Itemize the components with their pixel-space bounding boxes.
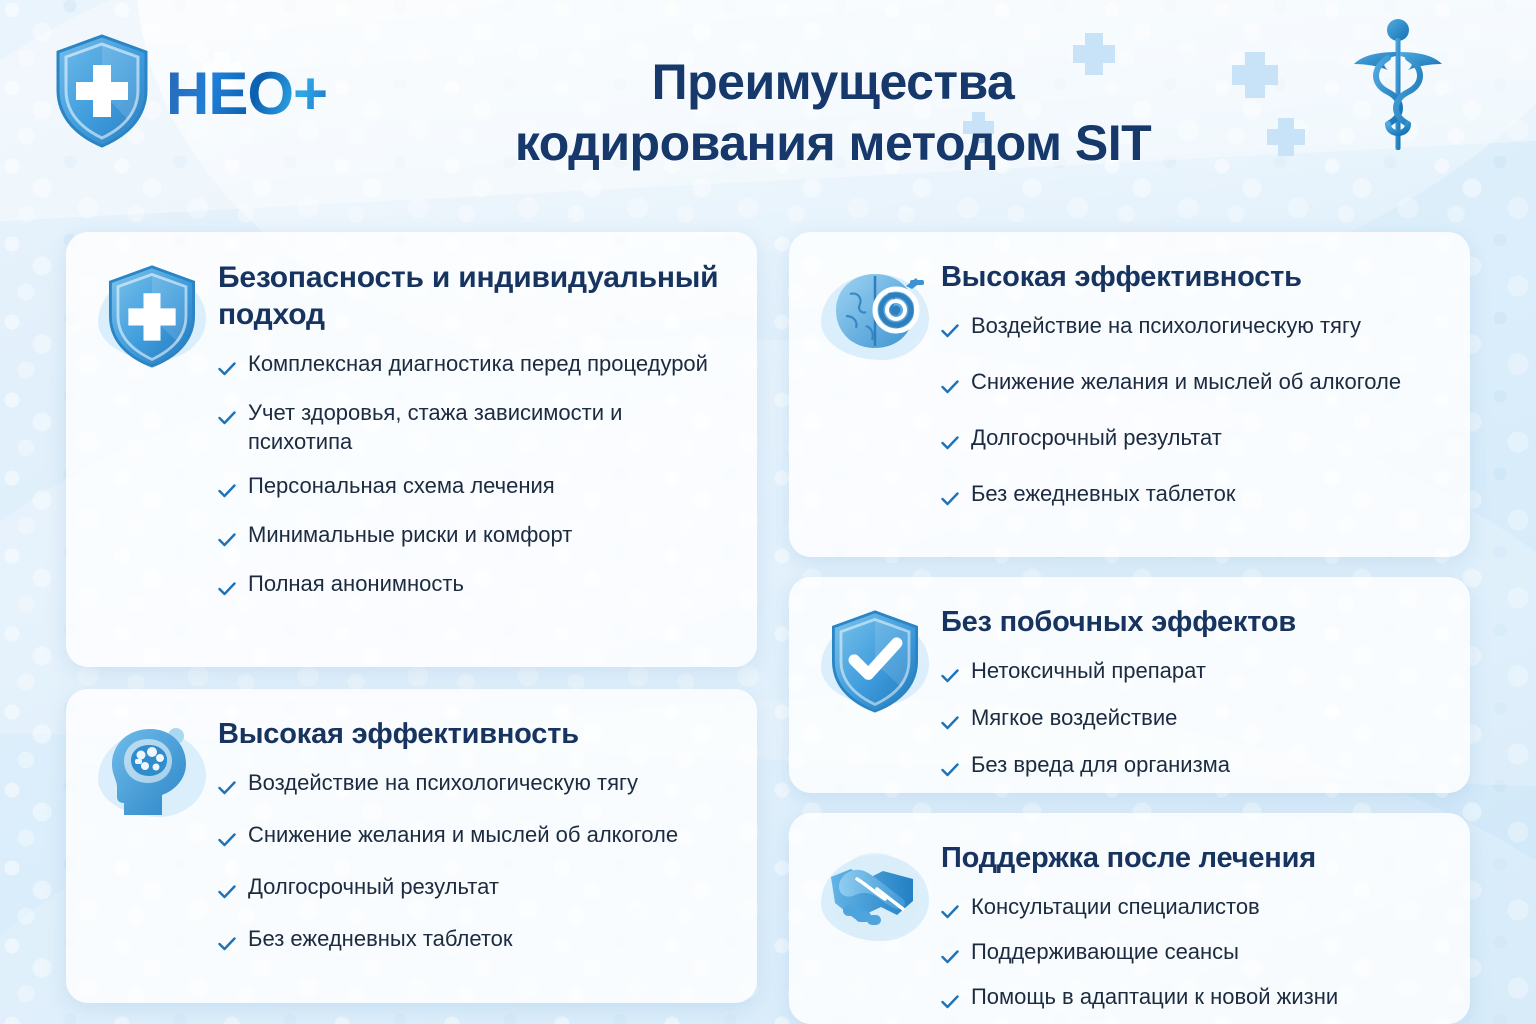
- card-safety: Безопасность и индивидуальный подход Ком…: [66, 232, 757, 667]
- list-item-text: Учет здоровья, стажа зависимости и психо…: [248, 398, 731, 456]
- list-item: Поддерживающие сеансы: [941, 937, 1444, 971]
- brand-logo: HEO+: [52, 32, 327, 155]
- head-brain-icon: [94, 721, 210, 825]
- card-safety-body: Безопасность и индивидуальный подход Ком…: [218, 258, 731, 603]
- page-title-line-1: Преимущества: [330, 52, 1336, 113]
- list-item: Без вреда для организма: [941, 750, 1444, 784]
- list-item: Полная анонимность: [218, 569, 731, 603]
- card-no-side-effects-bullets: Нетоксичный препарат Мягкое воздействие: [941, 656, 1444, 784]
- page-title-line-2: кодирования методом SIT: [330, 113, 1336, 174]
- card-no-side-effects: Без побочных эффектов Нетоксичный препар…: [789, 577, 1470, 793]
- list-item-text: Снижение желания и мыслей об алкоголе: [971, 367, 1401, 396]
- card-support-bullets: Консультации специалистов Поддерживающие…: [941, 892, 1444, 1016]
- list-item: Консультации специалистов: [941, 892, 1444, 926]
- list-item-text: Поддерживающие сеансы: [971, 937, 1239, 966]
- list-item: Минимальные риски и комфорт: [218, 520, 731, 554]
- list-item-text: Помощь в адаптации к новой жизни: [971, 982, 1338, 1011]
- list-item-text: Персональная схема лечения: [248, 471, 555, 500]
- list-item: Без ежедневных таблеток: [941, 479, 1444, 513]
- check-icon: [218, 929, 236, 958]
- list-item: Помощь в адаптации к новой жизни: [941, 982, 1444, 1016]
- list-item: Долгосрочный результат: [941, 423, 1444, 457]
- card-efficiency-left-bullets: Воздействие на психологическую тягу Сниж…: [218, 768, 731, 958]
- card-safety-bullets: Комплексная диагностика перед процедурой…: [218, 349, 731, 603]
- list-item: Снижение желания и мыслей об алкоголе: [218, 820, 731, 854]
- list-item: Воздействие на психологическую тягу: [941, 311, 1444, 345]
- left-column: Безопасность и индивидуальный подход Ком…: [66, 232, 757, 1024]
- list-item-text: Консультации специалистов: [971, 892, 1260, 921]
- list-item-text: Долгосрочный результат: [971, 423, 1222, 452]
- card-support-body: Поддержка после лечения Консультации спе…: [941, 839, 1444, 1024]
- check-icon: [941, 428, 959, 457]
- list-item: Нетоксичный препарат: [941, 656, 1444, 690]
- check-icon: [941, 987, 959, 1016]
- list-item: Долгосрочный результат: [218, 872, 731, 906]
- card-efficiency-left: Высокая эффективность Воздействие на пси…: [66, 689, 757, 1003]
- list-item-text: Мягкое воздействие: [971, 703, 1177, 732]
- list-item: Учет здоровья, стажа зависимости и психо…: [218, 398, 731, 456]
- list-item: Снижение желания и мыслей об алкоголе: [941, 367, 1444, 401]
- card-no-side-effects-body: Без побочных эффектов Нетоксичный препар…: [941, 603, 1444, 797]
- list-item-text: Без ежедневных таблеток: [971, 479, 1236, 508]
- list-item-text: Без вреда для организма: [971, 750, 1230, 779]
- shield-cross-icon: [94, 264, 210, 368]
- card-efficiency-left-title: Высокая эффективность: [218, 717, 731, 752]
- caduceus-icon: [1352, 14, 1444, 169]
- brain-target-icon: [817, 264, 933, 368]
- list-item-text: Комплексная диагностика перед процедурой: [248, 349, 708, 378]
- list-item-text: Снижение желания и мыслей об алкоголе: [248, 820, 678, 849]
- card-efficiency-right-icon-wrap: [809, 258, 941, 368]
- shield-cross-icon: [52, 32, 152, 155]
- list-item-text: Нетоксичный препарат: [971, 656, 1206, 685]
- check-icon: [941, 661, 959, 690]
- check-icon: [941, 708, 959, 737]
- check-icon: [941, 372, 959, 401]
- card-efficiency-right-bullets: Воздействие на психологическую тягу Сниж…: [941, 311, 1444, 513]
- page-title: Преимущества кодирования методом SIT: [330, 52, 1336, 174]
- check-icon: [941, 755, 959, 784]
- shield-check-icon: [817, 609, 933, 713]
- list-item-text: Воздействие на психологическую тягу: [248, 768, 638, 797]
- list-item-text: Без ежедневных таблеток: [248, 924, 513, 953]
- infographic-poster: HEO+ Преимущества кодирования методом SI…: [0, 0, 1536, 1024]
- right-column: Высокая эффективность Воздействие на пси…: [789, 232, 1470, 1024]
- card-support-title: Поддержка после лечения: [941, 841, 1444, 876]
- list-item: Персональная схема лечения: [218, 471, 731, 505]
- check-icon: [941, 942, 959, 971]
- card-efficiency-left-icon-wrap: [86, 715, 218, 825]
- logo-wordmark: HEO+: [166, 64, 327, 124]
- check-icon: [218, 825, 236, 854]
- check-icon: [218, 403, 236, 432]
- card-safety-title: Безопасность и индивидуальный подход: [218, 260, 731, 333]
- card-efficiency-right-title: Высокая эффективность: [941, 260, 1444, 295]
- handshake-icon: [817, 845, 933, 949]
- list-item-text: Полная анонимность: [248, 569, 464, 598]
- check-icon: [218, 354, 236, 383]
- poster-header: HEO+ Преимущества кодирования методом SI…: [0, 0, 1536, 206]
- list-item: Воздействие на психологическую тягу: [218, 768, 731, 802]
- check-icon: [941, 316, 959, 345]
- card-efficiency-right: Высокая эффективность Воздействие на пси…: [789, 232, 1470, 557]
- check-icon: [218, 574, 236, 603]
- check-icon: [218, 525, 236, 554]
- card-support-icon-wrap: [809, 839, 941, 949]
- check-icon: [941, 484, 959, 513]
- list-item: Комплексная диагностика перед процедурой: [218, 349, 731, 383]
- check-icon: [218, 773, 236, 802]
- list-item-text: Воздействие на психологическую тягу: [971, 311, 1361, 340]
- check-icon: [218, 877, 236, 906]
- card-safety-icon-wrap: [86, 258, 218, 368]
- cards-container: Безопасность и индивидуальный подход Ком…: [0, 232, 1536, 1024]
- list-item: Мягкое воздействие: [941, 703, 1444, 737]
- card-efficiency-right-body: Высокая эффективность Воздействие на пси…: [941, 258, 1444, 536]
- list-item-text: Минимальные риски и комфорт: [248, 520, 572, 549]
- check-icon: [218, 476, 236, 505]
- card-efficiency-left-body: Высокая эффективность Воздействие на пси…: [218, 715, 731, 977]
- check-icon: [941, 897, 959, 926]
- card-no-side-effects-title: Без побочных эффектов: [941, 605, 1444, 640]
- list-item: Без ежедневных таблеток: [218, 924, 731, 958]
- list-item-text: Долгосрочный результат: [248, 872, 499, 901]
- card-no-side-effects-icon-wrap: [809, 603, 941, 713]
- card-support: Поддержка после лечения Консультации спе…: [789, 813, 1470, 1024]
